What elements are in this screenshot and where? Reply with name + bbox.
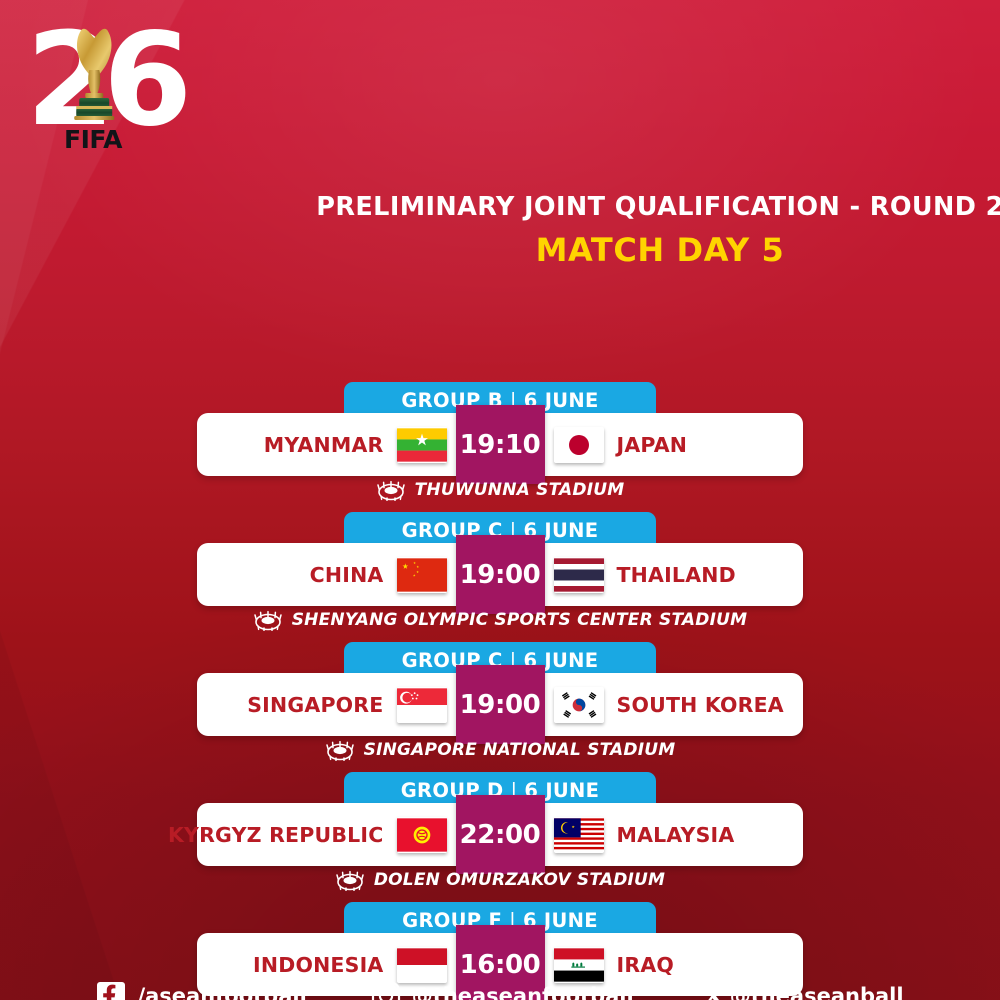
away-team: MALAYSIA [545,817,804,853]
logo-fifa-wordmark: FIFA [34,125,152,154]
match-time: 19:00 [456,535,545,614]
home-team-name: MYANMAR [260,433,388,457]
away-team-name: JAPAN [613,433,692,457]
venue: THUWUNNA STADIUM [0,479,1000,501]
match-time: 19:10 [456,405,545,484]
match-card: MYANMAR 19:10 JAPAN [197,413,803,476]
social-footer: /aseanfootball @theaseanfootball @thease… [0,981,1000,1000]
match-time: 22:00 [456,795,545,874]
japan-flag [554,427,604,463]
venue-name: SHENYANG OLYMPIC SPORTS CENTER STADIUM [292,610,748,630]
home-team-name: KYRGYZ REPUBLIC [164,823,388,847]
facebook-icon [96,981,126,1000]
away-team: SOUTH KOREA [545,687,804,723]
away-team-name: THAILAND [613,563,740,587]
venue: SHENYANG OLYMPIC SPORTS CENTER STADIUM [0,609,1000,631]
stadium-icon [325,739,355,761]
singapore-flag [397,687,447,723]
indonesia-flag [397,947,447,983]
home-team: INDONESIA [197,947,456,983]
thailand-flag [554,557,604,593]
match-card: CHINA 19:00 THAILAND [197,543,803,606]
away-team: THAILAND [545,557,804,593]
x-twitter-icon [698,981,728,1000]
home-team: SINGAPORE [197,687,456,723]
page-title: PRELIMINARY JOINT QUALIFICATION - ROUND … [160,192,1000,222]
home-team-name: SINGAPORE [243,693,387,717]
stadium-icon [253,609,283,631]
x-handle: @theaseanball [730,984,904,1000]
match-row: GROUP D | 6 JUNE KYRGYZ REPUBLIC 22:00 M… [0,772,1000,902]
kyrgyzstan-flag [397,817,447,853]
match-list: GROUP B | 6 JUNE MYANMAR 19:10 JAPAN [0,382,1000,1000]
world-cup-trophy-icon [63,24,125,132]
south-korea-flag [554,687,604,723]
away-team-name: MALAYSIA [613,823,739,847]
instagram-handle: @theaseanfootball [412,984,634,1000]
venue-name: DOLEN OMURZAKOV STADIUM [374,870,665,890]
away-team-name: SOUTH KOREA [613,693,788,717]
match-row: GROUP B | 6 JUNE MYANMAR 19:10 JAPAN [0,382,1000,512]
match-row: GROUP C | 6 JUNE CHINA 19:00 THAILAND [0,512,1000,642]
match-card: KYRGYZ REPUBLIC 22:00 MALAYSIA [197,803,803,866]
china-flag [397,557,447,593]
match-day-subtitle: MATCH DAY 5 [160,231,1000,269]
match-row: GROUP C | 6 JUNE SINGAPORE 19:00 SOUTH K… [0,642,1000,772]
match-time: 19:00 [456,665,545,744]
malaysia-flag [554,817,604,853]
venue: SINGAPORE NATIONAL STADIUM [0,739,1000,761]
away-team-name: IRAQ [613,953,679,977]
home-team-name: CHINA [306,563,388,587]
venue-name: SINGAPORE NATIONAL STADIUM [364,740,676,760]
stadium-icon [335,869,365,891]
fifa-world-cup-26-logo: 26 [34,18,152,158]
home-team: KYRGYZ REPUBLIC [197,817,456,853]
iraq-flag [554,947,604,983]
facebook-handle: /aseanfootball [137,984,306,1000]
home-team: CHINA [197,557,456,593]
home-team: MYANMAR [197,427,456,463]
venue-name: THUWUNNA STADIUM [415,480,625,500]
match-card: SINGAPORE 19:00 SOUTH KOREA [197,673,803,736]
x-account[interactable]: @theaseanball [698,981,904,1000]
facebook-account[interactable]: /aseanfootball [96,981,306,1000]
match-schedule-poster: 26 [0,0,1000,1000]
away-team: JAPAN [545,427,804,463]
instagram-account[interactable]: @theaseanfootball [371,981,634,1000]
instagram-icon [371,981,401,1000]
away-team: IRAQ [545,947,804,983]
stadium-icon [376,479,406,501]
venue: DOLEN OMURZAKOV STADIUM [0,869,1000,891]
home-team-name: INDONESIA [249,953,387,977]
poster-header: PRELIMINARY JOINT QUALIFICATION - ROUND … [160,192,1000,269]
myanmar-flag [397,427,447,463]
